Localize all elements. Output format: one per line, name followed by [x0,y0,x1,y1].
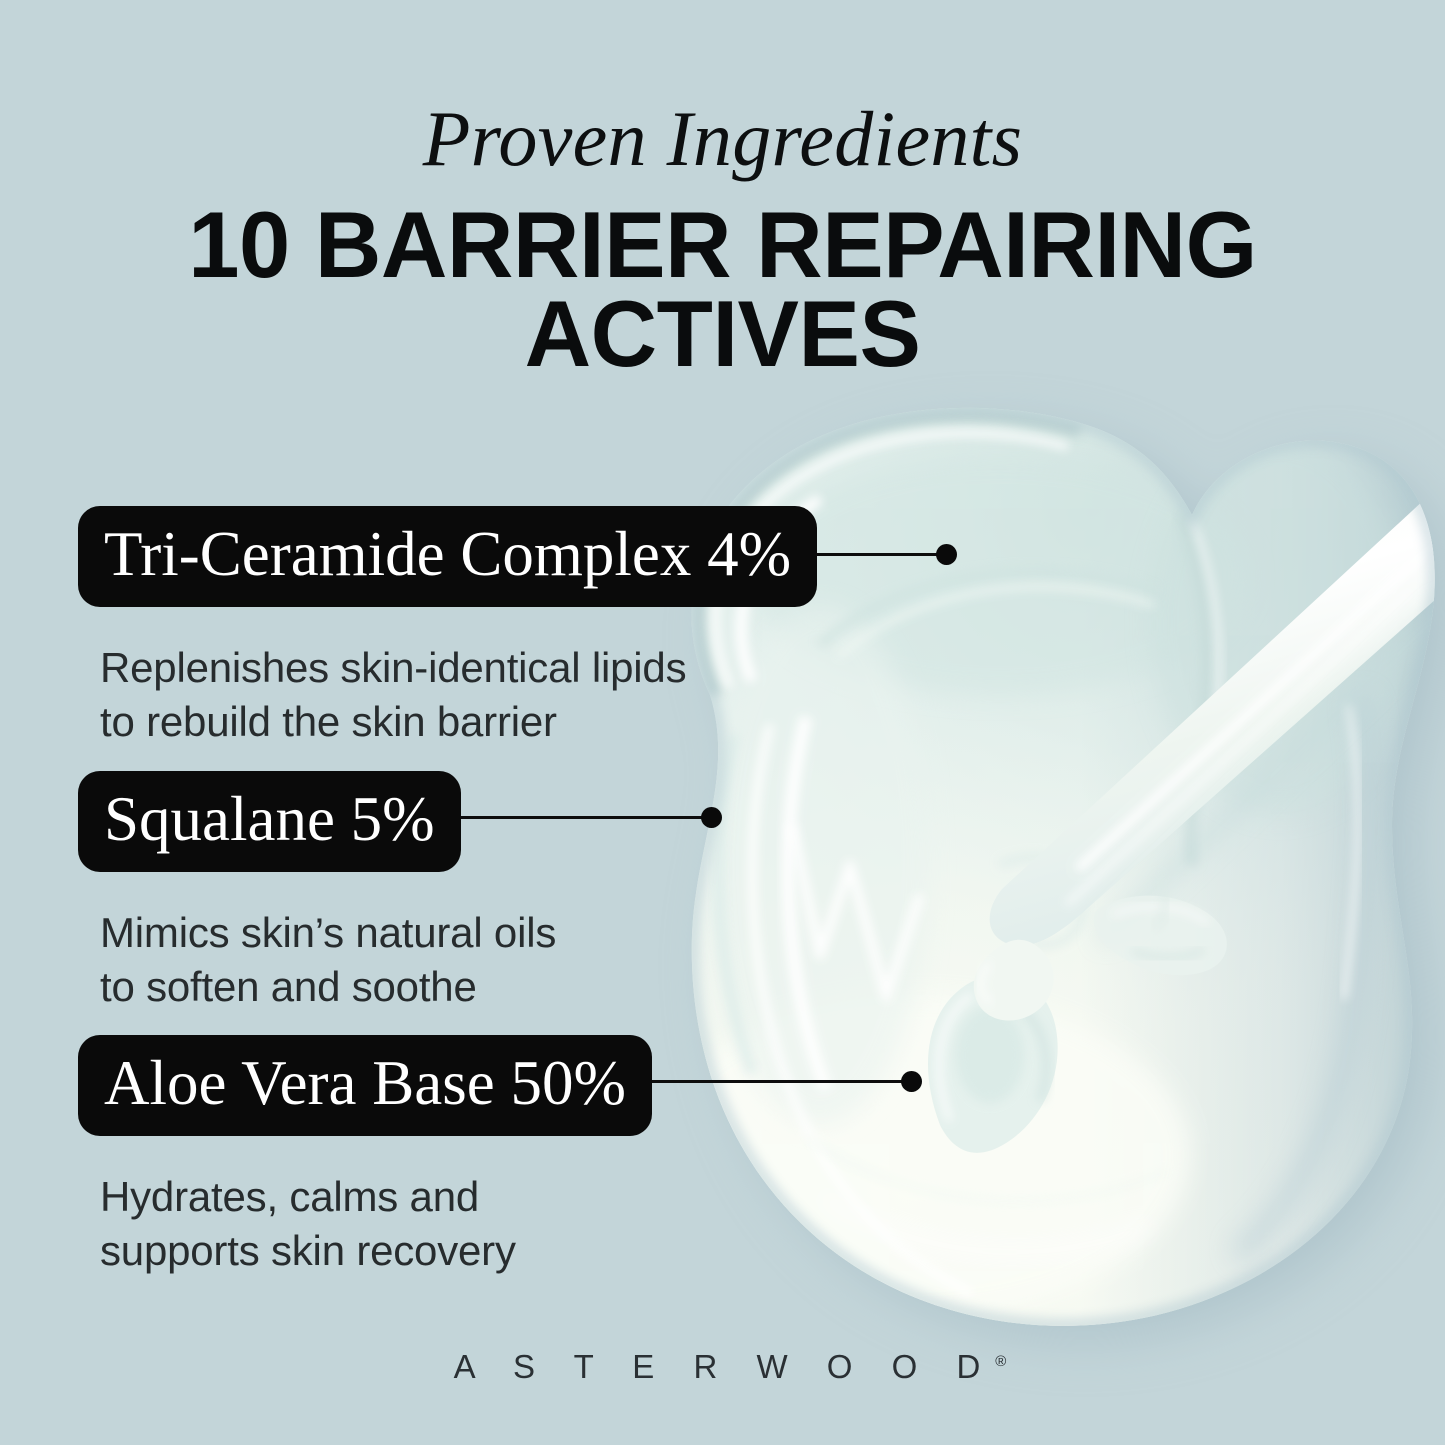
leader-line-2 [456,816,714,819]
ingredient-callout-2: Squalane 5% Mimics skin’s natural oils t… [78,771,556,1014]
ingredient-badge-tri-ceramide-complex[interactable]: Tri-Ceramide Complex 4% [78,506,817,607]
ingredient-description-1: Replenishes skin-identical lipids to reb… [100,641,817,749]
leader-line-3 [648,1080,914,1083]
leader-dot-1 [936,544,957,565]
ingredient-description-2: Mimics skin’s natural oils to soften and… [100,906,556,1014]
registered-trademark-icon: ® [995,1353,1006,1370]
ingredient-callout-1: Tri-Ceramide Complex 4% Replenishes skin… [78,506,817,749]
eyebrow-heading: Proven Ingredients [0,100,1445,178]
leader-dot-2 [701,807,722,828]
leader-line-1 [813,553,949,556]
leader-dot-3 [901,1071,922,1092]
ingredient-description-3: Hydrates, calms and supports skin recove… [100,1170,652,1278]
page-title: 10 BARRIER REPAIRING ACTIVES [132,200,1313,379]
poster-canvas: Proven Ingredients 10 BARRIER REPAIRING … [0,0,1445,1445]
ingredient-callout-3: Aloe Vera Base 50% Hydrates, calms and s… [78,1035,652,1278]
brand-logo: A S T E R W O O D® [0,1348,1445,1386]
ingredient-badge-aloe-vera-base[interactable]: Aloe Vera Base 50% [78,1035,652,1136]
brand-name: A S T E R W O O D [454,1348,996,1385]
ingredient-badge-squalane[interactable]: Squalane 5% [78,771,461,872]
